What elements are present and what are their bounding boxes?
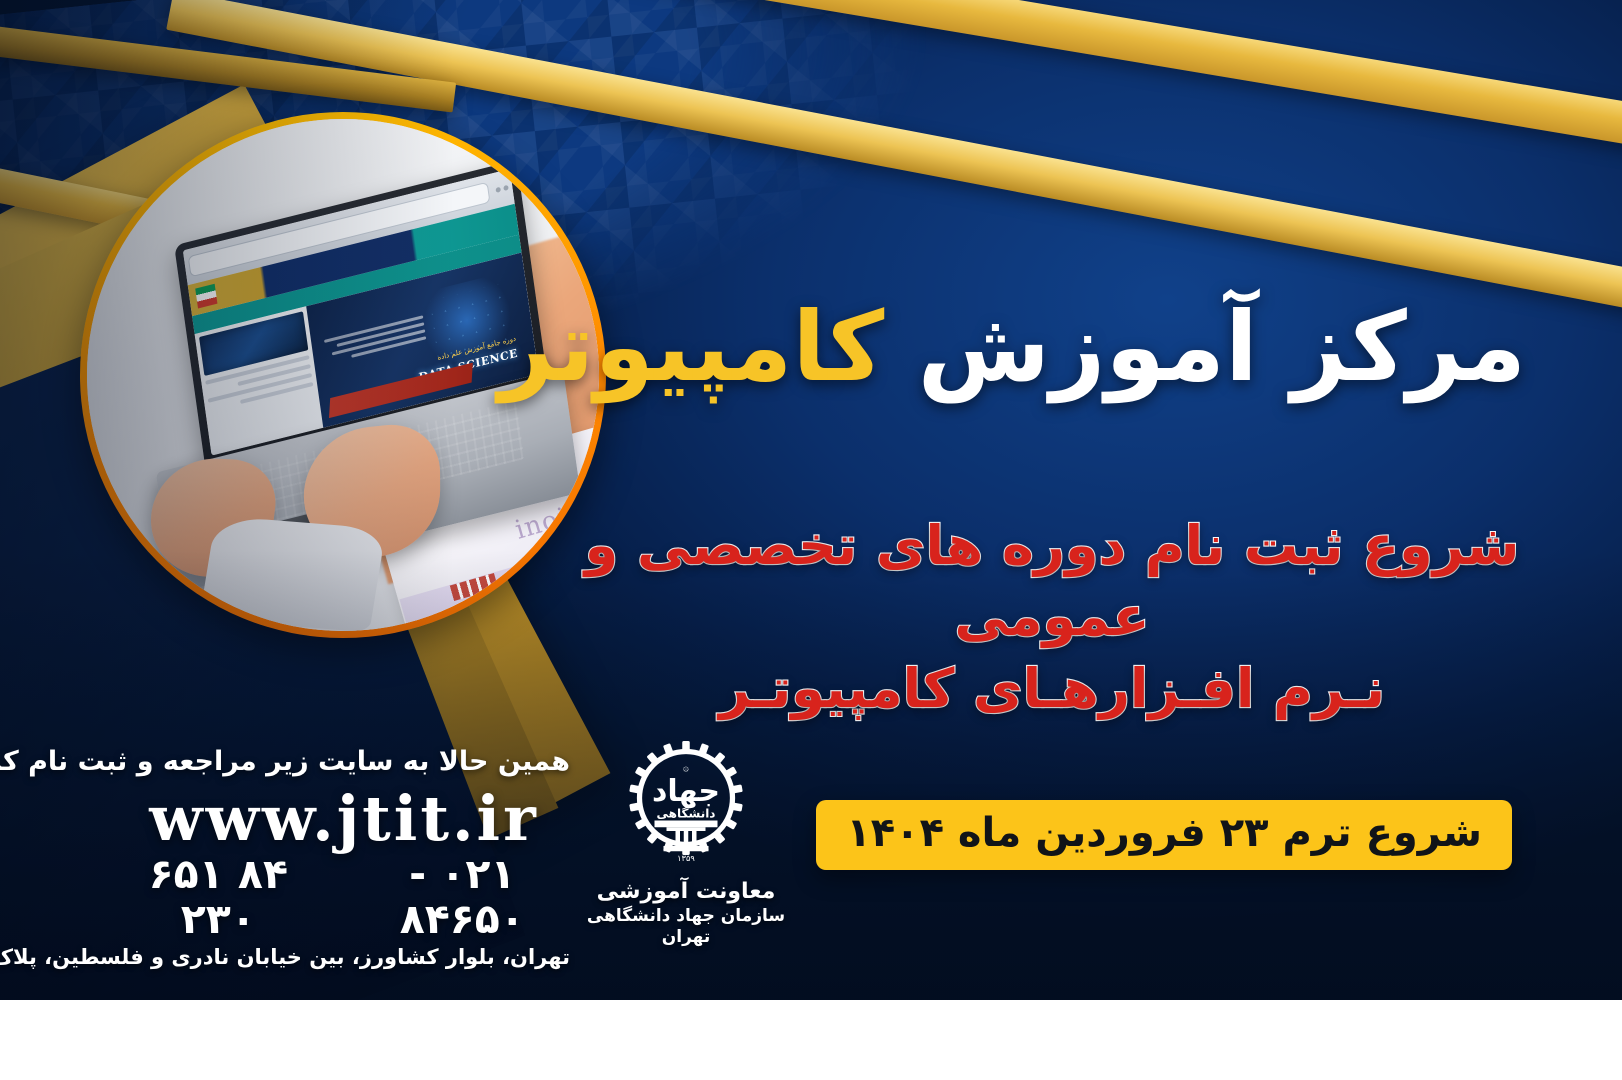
phone-secondary: ۰۲۱ - ۸۴۶۵۰ [355, 852, 570, 942]
subtitle-line-2: نـرم افـزارهـای کامپیوتـر [582, 653, 1522, 724]
term-start-date-badge: شروع ترم ۲۳ فروردین ماه ۱۴۰۴ [816, 800, 1512, 870]
postal-address: تهران، بلوار کشاورز، بین خیابان نادری و … [118, 945, 570, 969]
poster-headline: مرکز آموزش کامپیوتر [499, 296, 1526, 400]
organization-logo-block: ۞ جهاد دانشگاهی ۱۳۵۹ معاونت آموزشی سازما… [586, 726, 786, 948]
poster-stage: inoi [0, 0, 1622, 1080]
advertisement-poster: inoi [0, 0, 1622, 1000]
logo-caption-line-1: معاونت آموزشی [597, 879, 776, 904]
headline-primary: مرکز آموزش [884, 291, 1526, 403]
contact-call-to-action: همین حالا به سایت زیر مراجعه و ثبت نام ک… [118, 746, 570, 778]
logo-word-daneshgahi: دانشگاهی [657, 807, 716, 821]
jahad-daneshgahi-gear-icon: ۞ جهاد دانشگاهی ۱۳۵۹ [611, 726, 761, 876]
phone-numbers: ۰۲۱ - ۸۴۶۵۰ ۸۴ ۶۵۱ ۲۳۰ [118, 852, 570, 942]
logo-word-jahad: جهاد [652, 774, 720, 809]
subtitle-line-1: شروع ثبت نام دوره های تخصصی و عمومی [582, 510, 1522, 653]
shirt-sleeve [199, 516, 386, 631]
logo-caption-line-2: سازمان جهاد دانشگاهی تهران [586, 906, 786, 949]
logo-year: ۱۳۵۹ [677, 853, 695, 863]
browser-tab-dot-icon [496, 187, 502, 193]
browser-tab-dot-icon [504, 185, 510, 191]
headline-accent: کامپیوتر [499, 291, 885, 403]
contact-block: همین حالا به سایت زیر مراجعه و ثبت نام ک… [118, 746, 570, 969]
iran-flag-icon [196, 284, 218, 309]
phone-primary: ۸۴ ۶۵۱ ۲۳۰ [118, 852, 319, 942]
logo-caption: معاونت آموزشی سازمان جهاد دانشگاهی تهران [586, 878, 786, 948]
poster-subtitle: شروع ثبت نام دوره های تخصصی و عمومی نـرم… [582, 510, 1522, 724]
website-url[interactable]: www.jtit.ir [118, 784, 570, 853]
banner-text-lines [324, 315, 427, 368]
website-sidebar [195, 307, 323, 456]
svg-text:۞: ۞ [683, 762, 690, 774]
